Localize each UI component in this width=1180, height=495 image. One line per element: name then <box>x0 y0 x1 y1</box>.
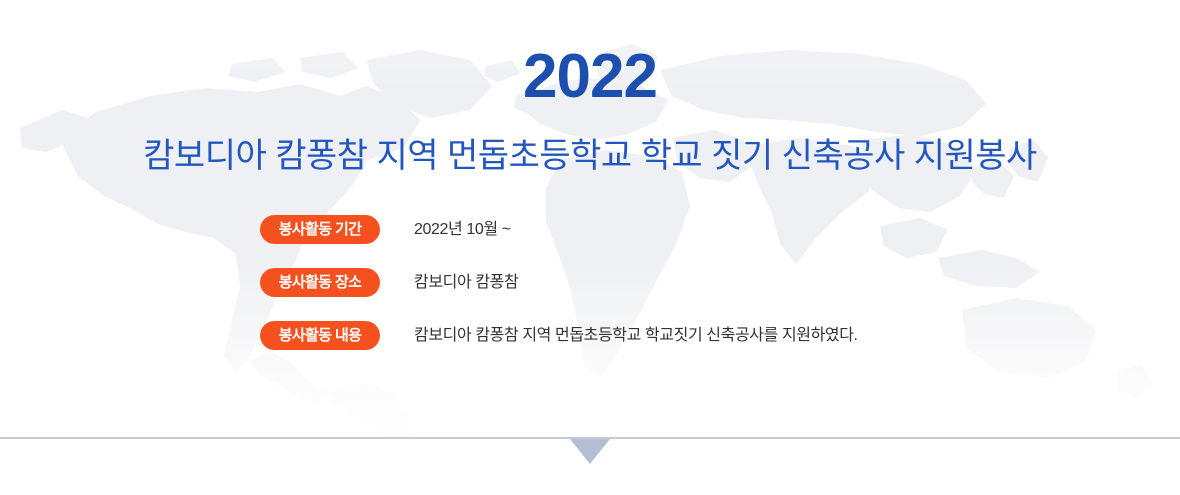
status-badge-location: 봉사활동 장소 <box>260 268 380 297</box>
info-row-description: 봉사활동 내용 캄보디아 캄퐁참 지역 먼돕초등학교 학교짓기 신축공사를 지원… <box>260 318 1120 352</box>
info-row-period: 봉사활동 기간 2022년 10월 ~ <box>260 212 1120 246</box>
volunteer-banner: 2022 캄보디아 캄퐁참 지역 먼돕초등학교 학교 짓기 신축공사 지원봉사 … <box>0 0 1180 495</box>
volunteer-info-list: 봉사활동 기간 2022년 10월 ~ 봉사활동 장소 캄보디아 캄퐁참 봉사활… <box>260 212 1120 371</box>
info-row-location: 봉사활동 장소 캄보디아 캄퐁참 <box>260 265 1120 299</box>
page-title: 캄보디아 캄퐁참 지역 먼돕초등학교 학교 짓기 신축공사 지원봉사 <box>0 134 1180 178</box>
info-value-description: 캄보디아 캄퐁참 지역 먼돕초등학교 학교짓기 신축공사를 지원하였다. <box>414 321 858 350</box>
chevron-down-triangle-icon <box>570 439 610 464</box>
status-badge-period: 봉사활동 기간 <box>260 215 380 244</box>
year-heading: 2022 <box>0 44 1180 110</box>
banner-content: 2022 캄보디아 캄퐁참 지역 먼돕초등학교 학교 짓기 신축공사 지원봉사 … <box>0 0 1180 495</box>
info-value-period: 2022년 10월 ~ <box>414 215 511 244</box>
status-badge-description: 봉사활동 내용 <box>260 321 380 350</box>
info-value-location: 캄보디아 캄퐁참 <box>414 268 518 297</box>
